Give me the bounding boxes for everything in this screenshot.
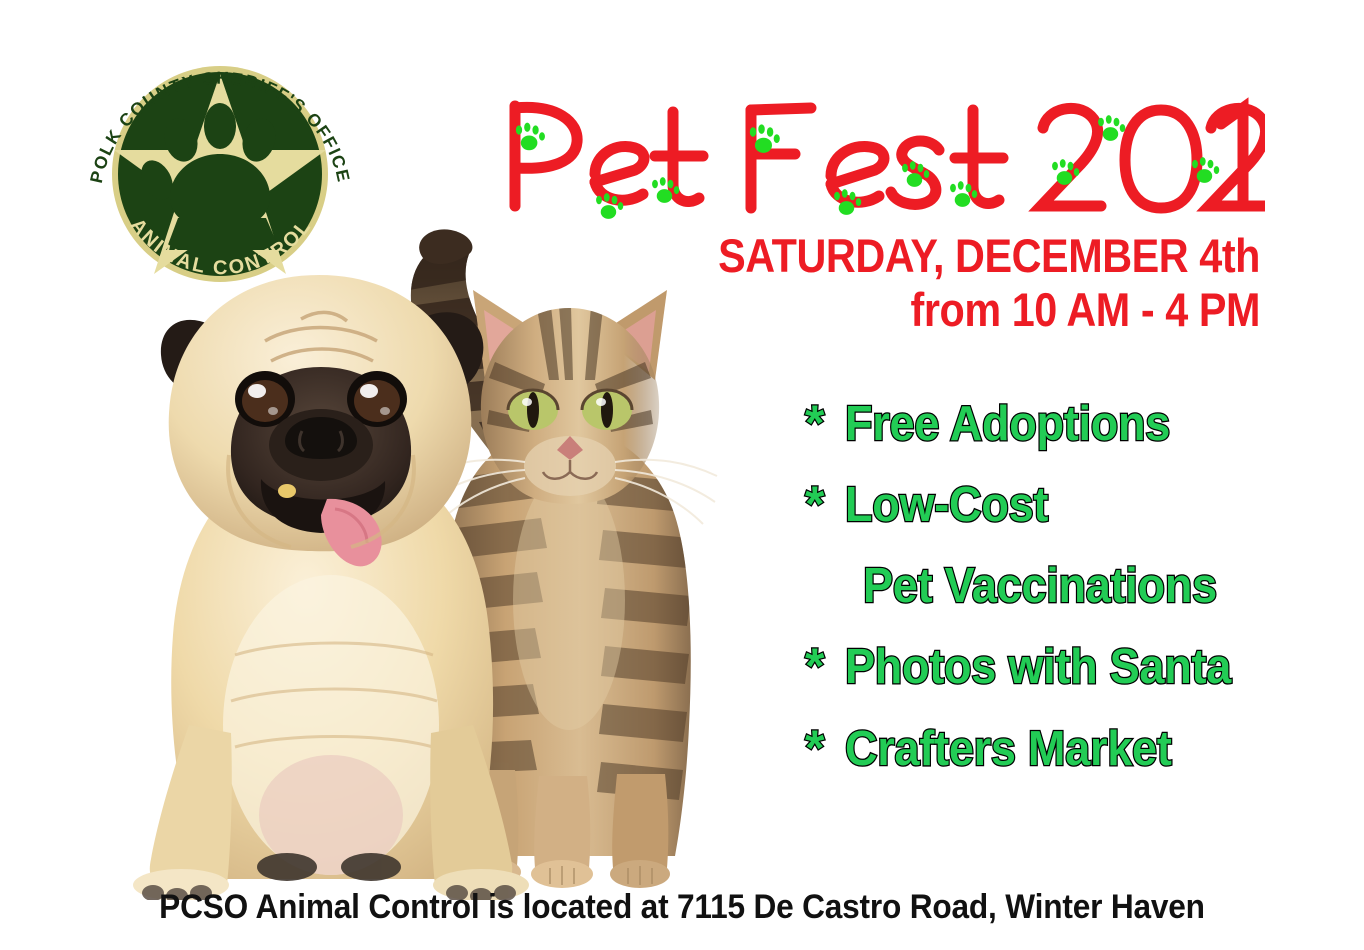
- list-item: * Low-Cost: [805, 479, 1345, 531]
- pug-tooth: [278, 484, 296, 498]
- page-title: [495, 88, 1265, 233]
- feature-label: Free Adoptions: [845, 399, 1170, 450]
- list-item: * Crafters Market: [805, 723, 1345, 775]
- features-list: * Free Adoptions * Low-Cost Pet Vaccinat…: [805, 398, 1345, 804]
- list-item: * Photos with Santa: [805, 641, 1345, 693]
- bullet-asterisk-icon: *: [805, 398, 845, 448]
- feature-label: Low-Cost: [845, 480, 1048, 531]
- feature-label: Crafters Market: [845, 724, 1172, 775]
- list-item: Pet Vaccinations: [805, 561, 1345, 612]
- title-letters: [515, 106, 1265, 208]
- event-time-line: from 10 AM - 4 PM: [679, 286, 1260, 333]
- list-item: * Free Adoptions: [805, 398, 1345, 450]
- bullet-asterisk-icon: *: [805, 641, 845, 691]
- pet-fest-flyer: POLK COUNTY SHERIFF'S OFFICE ANIMAL CONT…: [0, 0, 1364, 950]
- pug-dog-photo: [95, 255, 565, 900]
- event-date-block: SATURDAY, DECEMBER 4th from 10 AM - 4 PM: [600, 232, 1260, 333]
- feature-label: Pet Vaccinations: [863, 561, 1217, 612]
- feature-label: Photos with Santa: [845, 642, 1231, 693]
- bullet-asterisk-icon: *: [805, 479, 845, 529]
- location-address-text: PCSO Animal Control is located at 7115 D…: [48, 888, 1317, 927]
- bullet-asterisk-icon: *: [805, 723, 845, 773]
- event-date-line: SATURDAY, DECEMBER 4th: [679, 232, 1260, 279]
